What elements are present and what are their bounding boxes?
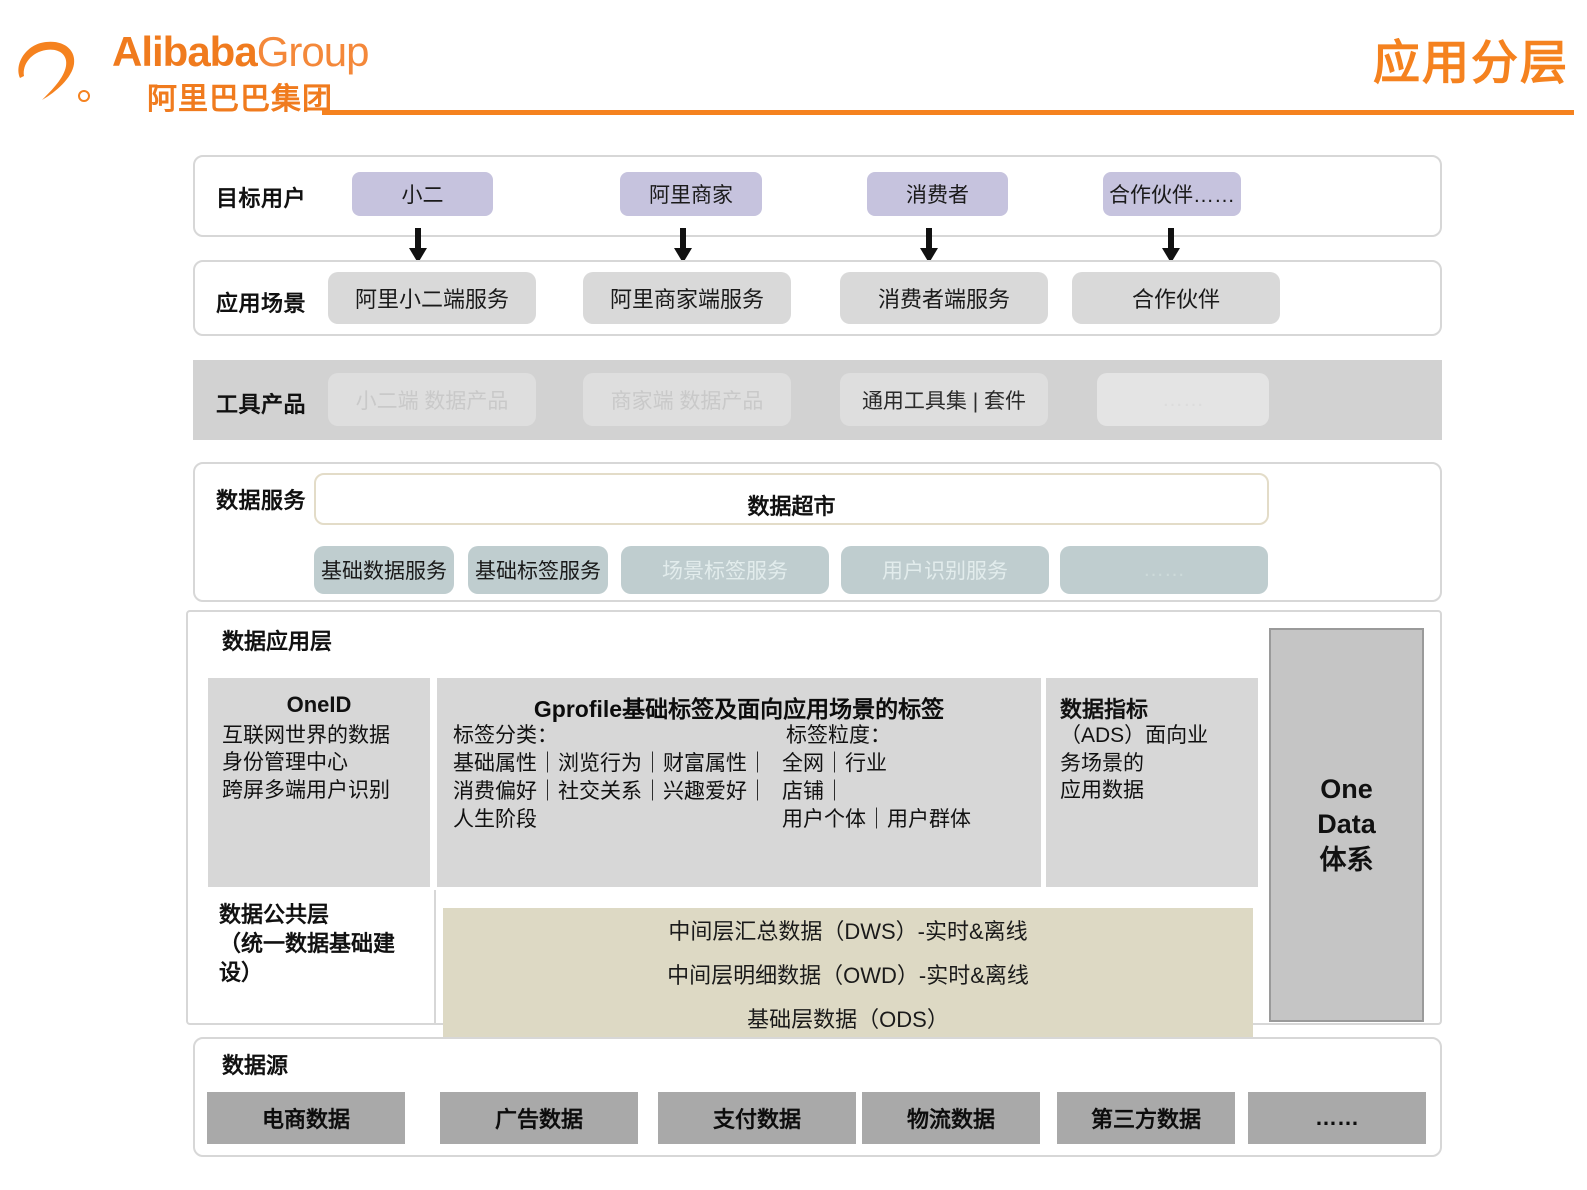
onedata-line-1: Data bbox=[1317, 807, 1376, 842]
oneid-line-2: 跨屏多端用户识别 bbox=[222, 777, 430, 804]
logo-brand-text: Alibaba bbox=[112, 28, 257, 75]
oneid-line-0: 互联网世界的数据 bbox=[222, 722, 430, 749]
page-header: AlibabaGroup 阿里巴巴集团 应用分层 bbox=[0, 0, 1587, 125]
gprofile-right-line-0: 标签粒度： bbox=[782, 722, 971, 750]
data-service-chip-4[interactable]: …… bbox=[1060, 546, 1268, 594]
tool-product-chip-3[interactable]: …… bbox=[1097, 373, 1269, 426]
onedata-line-2: 体系 bbox=[1317, 843, 1376, 878]
gprofile-left-line-2: 消费偏好｜社交关系｜兴趣爱好｜ bbox=[453, 778, 768, 806]
onedata-text: One Data 体系 bbox=[1317, 772, 1376, 877]
app-scenes-label: 应用场景 bbox=[216, 286, 306, 318]
gprofile-left-line-3: 人生阶段 bbox=[453, 806, 768, 834]
app-scene-chip-1[interactable]: 阿里商家端服务 bbox=[583, 272, 791, 324]
ads-line-1: 务场景的 bbox=[1060, 750, 1208, 778]
data-source-chip-2[interactable]: 支付数据 bbox=[658, 1092, 856, 1144]
data-service-label: 数据服务 bbox=[216, 483, 306, 515]
logo-group-text: Group bbox=[257, 28, 369, 75]
down-arrow-icon-3 bbox=[1159, 228, 1183, 264]
ads-line-2: 应用数据 bbox=[1060, 777, 1208, 805]
data-service-chip-2[interactable]: 场景标签服务 bbox=[621, 546, 829, 594]
data-public-layer-label: 数据公共层 （统一数据基础建 设） bbox=[219, 900, 395, 987]
gprofile-right-column: 标签粒度： 全网｜行业 店铺｜ 用户个体｜用户群体 bbox=[782, 722, 971, 834]
ads-line-0: （ADS）面向业 bbox=[1060, 722, 1208, 750]
target-users-label: 目标用户 bbox=[216, 181, 306, 213]
gprofile-right-line-3: 用户个体｜用户群体 bbox=[782, 806, 971, 834]
tool-product-chip-1[interactable]: 商家端 数据产品 bbox=[583, 373, 791, 426]
gprofile-title: Gprofile基础标签及面向应用场景的标签 bbox=[437, 690, 1041, 724]
gprofile-right-line-1: 全网｜行业 bbox=[782, 750, 971, 778]
data-service-chip-1[interactable]: 基础标签服务 bbox=[468, 546, 608, 594]
data-source-chip-0[interactable]: 电商数据 bbox=[207, 1092, 405, 1144]
app-scene-chip-2[interactable]: 消费者端服务 bbox=[840, 272, 1048, 324]
target-user-chip-2[interactable]: 消费者 bbox=[867, 172, 1008, 216]
title-underline-rule bbox=[322, 110, 1574, 115]
app-scene-chip-3[interactable]: 合作伙伴 bbox=[1072, 272, 1280, 324]
onedata-block[interactable]: One Data 体系 bbox=[1269, 628, 1424, 1022]
oneid-block[interactable]: OneID 互联网世界的数据 身份管理中心 跨屏多端用户识别 bbox=[208, 678, 430, 887]
down-arrow-icon-2 bbox=[917, 228, 941, 264]
target-user-chip-3[interactable]: 合作伙伴…… bbox=[1103, 172, 1241, 216]
app-scene-chip-0[interactable]: 阿里小二端服务 bbox=[328, 272, 536, 324]
oneid-line-1: 身份管理中心 bbox=[222, 749, 430, 776]
data-source-chip-5[interactable]: …… bbox=[1248, 1092, 1426, 1144]
page-title: 应用分层 bbox=[1373, 24, 1569, 93]
gprofile-left-column: 标签分类： 基础属性｜浏览行为｜财富属性｜ 消费偏好｜社交关系｜兴趣爱好｜ 人生… bbox=[453, 722, 768, 834]
data-source-label: 数据源 bbox=[222, 1048, 288, 1080]
down-arrow-icon-1 bbox=[671, 228, 695, 264]
data-public-layer-label-line-2: 设） bbox=[219, 958, 395, 987]
data-app-layer-label: 数据应用层 bbox=[222, 624, 332, 656]
public-layer-divider bbox=[434, 890, 436, 1023]
onedata-line-0: One bbox=[1317, 772, 1376, 807]
oneid-title: OneID bbox=[208, 692, 430, 718]
target-user-chip-1[interactable]: 阿里商家 bbox=[620, 172, 762, 216]
ads-block[interactable]: 数据指标 （ADS）面向业 务场景的 应用数据 bbox=[1046, 678, 1258, 887]
logo-english-text: AlibabaGroup bbox=[112, 28, 368, 76]
data-source-chip-3[interactable]: 物流数据 bbox=[862, 1092, 1040, 1144]
alibaba-group-logo: AlibabaGroup 阿里巴巴集团 bbox=[12, 28, 442, 113]
gprofile-left-line-0: 标签分类： bbox=[453, 722, 768, 750]
target-user-chip-0[interactable]: 小二 bbox=[352, 172, 493, 216]
public-layer-bar-0[interactable]: 中间层汇总数据（DWS）-实时&离线 bbox=[443, 908, 1253, 952]
tool-product-chip-2[interactable]: 通用工具集 | 套件 bbox=[840, 373, 1048, 426]
data-supermarket-box[interactable]: 数据超市 bbox=[314, 473, 1269, 525]
gprofile-right-line-2: 店铺｜ bbox=[782, 778, 971, 806]
public-layer-bar-2[interactable]: 基础层数据（ODS） bbox=[443, 996, 1253, 1040]
data-source-chip-1[interactable]: 广告数据 bbox=[440, 1092, 638, 1144]
data-source-chip-4[interactable]: 第三方数据 bbox=[1057, 1092, 1235, 1144]
data-service-chip-0[interactable]: 基础数据服务 bbox=[314, 546, 454, 594]
tool-product-chip-0[interactable]: 小二端 数据产品 bbox=[328, 373, 536, 426]
logo-chinese-text: 阿里巴巴集团 bbox=[147, 74, 333, 118]
data-public-layer-label-line-1: （统一数据基础建 bbox=[219, 929, 395, 958]
gprofile-left-line-1: 基础属性｜浏览行为｜财富属性｜ bbox=[453, 750, 768, 778]
public-layer-bar-1[interactable]: 中间层明细数据（OWD）-实时&离线 bbox=[443, 952, 1253, 996]
alibaba-logo-icon bbox=[12, 34, 120, 106]
ads-title: 数据指标 bbox=[1060, 692, 1148, 724]
data-service-chip-3[interactable]: 用户识别服务 bbox=[841, 546, 1049, 594]
down-arrow-icon-0 bbox=[406, 228, 430, 264]
tool-products-label: 工具产品 bbox=[216, 387, 306, 419]
data-public-layer-label-line-0: 数据公共层 bbox=[219, 900, 395, 929]
gprofile-block[interactable]: Gprofile基础标签及面向应用场景的标签 标签分类： 基础属性｜浏览行为｜财… bbox=[437, 678, 1041, 887]
ads-body: （ADS）面向业 务场景的 应用数据 bbox=[1060, 722, 1208, 805]
